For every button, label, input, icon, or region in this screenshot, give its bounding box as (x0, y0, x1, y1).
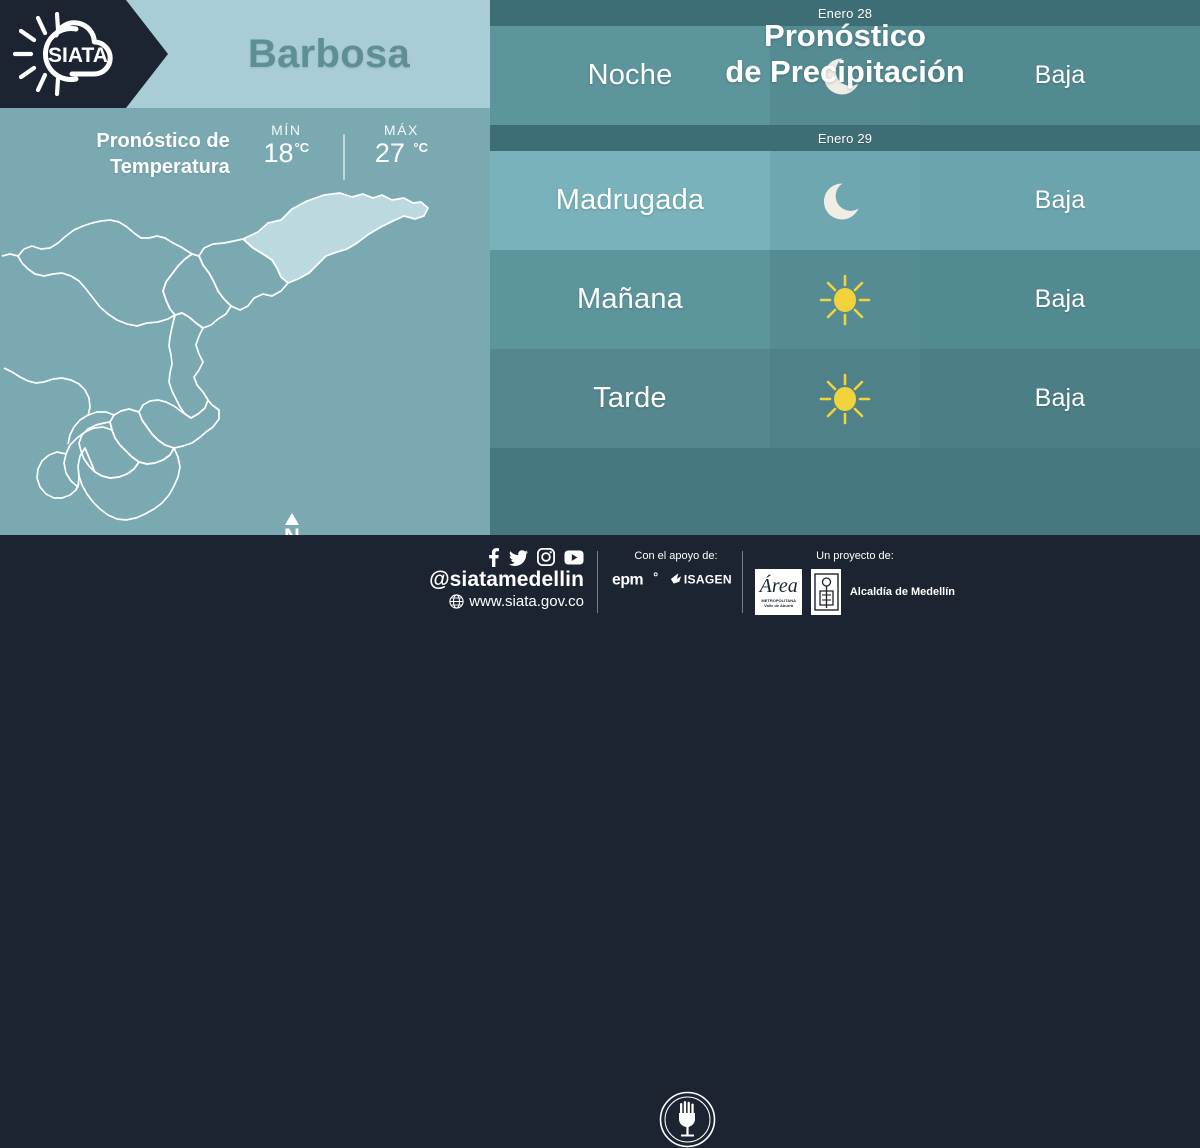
forecast-row-madrugada[interactable]: Madrugada Baja (490, 151, 1200, 250)
temperature-max-value: 27 (375, 138, 405, 168)
globe-icon (449, 594, 464, 609)
area-metropolitana-logo: Área METROPOLITANA Valle de Aburrá (755, 569, 802, 615)
twitter-icon[interactable] (509, 548, 528, 567)
precipitation-title-line2: de Precipitación (725, 54, 964, 90)
area-logo-sub-line2: Valle de Aburrá (764, 603, 793, 608)
website-row[interactable]: www.siata.gov.co (322, 593, 584, 611)
forecast-period-madrugada: Madrugada (490, 151, 770, 250)
sun-icon (770, 250, 920, 349)
temperature-min: MÍN 18°C (248, 122, 325, 167)
support-block: Con el apoyo de: epm ISAGEN (612, 550, 740, 589)
forecast-level-manana: Baja (920, 250, 1200, 349)
facebook-icon[interactable] (487, 548, 500, 567)
sun-icon (770, 349, 920, 448)
temperature-min-unit: °C (295, 140, 310, 155)
temperature-max-unit: °C (413, 140, 428, 155)
sun-cloud-icon: SIATA (12, 12, 130, 96)
amva-seal-icon (659, 1091, 716, 1148)
forecast-row-tarde[interactable]: Tarde Baja (490, 349, 1200, 448)
map-svg (0, 186, 490, 535)
map-region-medellin-north (169, 313, 208, 418)
temperature-divider (343, 134, 345, 180)
temperature-max-label: MÁX (363, 122, 440, 138)
temperature-title-line1: Pronóstico de (96, 130, 229, 152)
precipitation-panel: Pronóstico de Precipitación Enero 28 Noc… (490, 0, 1200, 535)
temperature-min-label: MÍN (248, 122, 325, 138)
isagen-logo: ISAGEN (669, 570, 740, 588)
map-region-west-border-4 (37, 452, 79, 498)
temperature-panel: SIATA Barbosa Pronóstico de Temperatura … (0, 0, 490, 535)
project-block: Un proyecto de: Área METROPOLITANA Valle… (755, 550, 955, 615)
temperature-title: Pronóstico de Temperatura (60, 122, 230, 180)
aburra-valley-map: N (0, 186, 490, 535)
map-region-medellin (139, 400, 219, 448)
instagram-icon[interactable] (537, 548, 555, 566)
svg-text:ISAGEN: ISAGEN (684, 573, 732, 587)
area-logo-sub: METROPOLITANA Valle de Aburrá (761, 598, 796, 608)
youtube-icon[interactable] (564, 550, 584, 565)
project-logos: Área METROPOLITANA Valle de Aburrá (755, 569, 955, 615)
social-icons (322, 547, 584, 567)
website-url: www.siata.gov.co (469, 593, 584, 611)
map-region-west-border (2, 254, 18, 256)
map-region-itagui (110, 409, 174, 464)
map-region-bello (18, 220, 192, 326)
temperature-min-value-wrap: 18°C (248, 139, 325, 167)
forecast-period-tarde: Tarde (490, 349, 770, 448)
support-logos: epm ISAGEN (612, 569, 740, 589)
forecast-level-tarde: Baja (920, 349, 1200, 448)
forecast-level-madrugada: Baja (920, 151, 1200, 250)
alcaldia-label: Alcaldía de Medellín (850, 586, 955, 598)
city-name: Barbosa (168, 0, 490, 108)
social-handle[interactable]: @siatamedellin (322, 568, 584, 593)
svg-text:epm: epm (612, 572, 644, 589)
forecast-row-manana[interactable]: Mañana Baja (490, 250, 1200, 349)
moon-icon (770, 151, 920, 250)
precipitation-title: Pronóstico de Precipitación (490, 0, 1200, 108)
social-block: @siatamedellin www.siata.gov.co (322, 547, 584, 611)
temperature-title-line2: Temperatura (110, 156, 230, 178)
project-caption: Un proyecto de: (755, 550, 955, 562)
siata-logo-text: SIATA (48, 44, 108, 67)
temperature-summary: Pronóstico de Temperatura MÍN 18°C MÁX 2… (60, 122, 440, 184)
epm-logo: epm (612, 569, 660, 589)
footer: @siatamedellin www.siata.gov.co Con el a… (0, 535, 1200, 630)
forecast-period-manana: Mañana (490, 250, 770, 349)
footer-divider-2 (742, 551, 743, 613)
precipitation-title-line1: Pronóstico (764, 18, 926, 54)
area-logo-script: Área (760, 576, 798, 596)
weather-forecast-poster: SIATA Barbosa Pronóstico de Temperatura … (0, 0, 1200, 630)
support-caption: Con el apoyo de: (612, 550, 740, 562)
map-region-west-border-6 (44, 378, 90, 416)
temperature-max: MÁX 27 °C (363, 122, 440, 167)
temperature-max-value-wrap: 27 °C (363, 139, 440, 167)
alcaldia-crest-icon (811, 569, 841, 615)
date-band-enero-29: Enero 29 (490, 125, 1200, 151)
temperature-min-value: 18 (264, 138, 294, 168)
footer-divider-1 (597, 551, 598, 613)
map-region-caldas (78, 448, 180, 520)
map-region-barbosa (243, 193, 428, 283)
map-region-west-border-5 (4, 368, 44, 383)
